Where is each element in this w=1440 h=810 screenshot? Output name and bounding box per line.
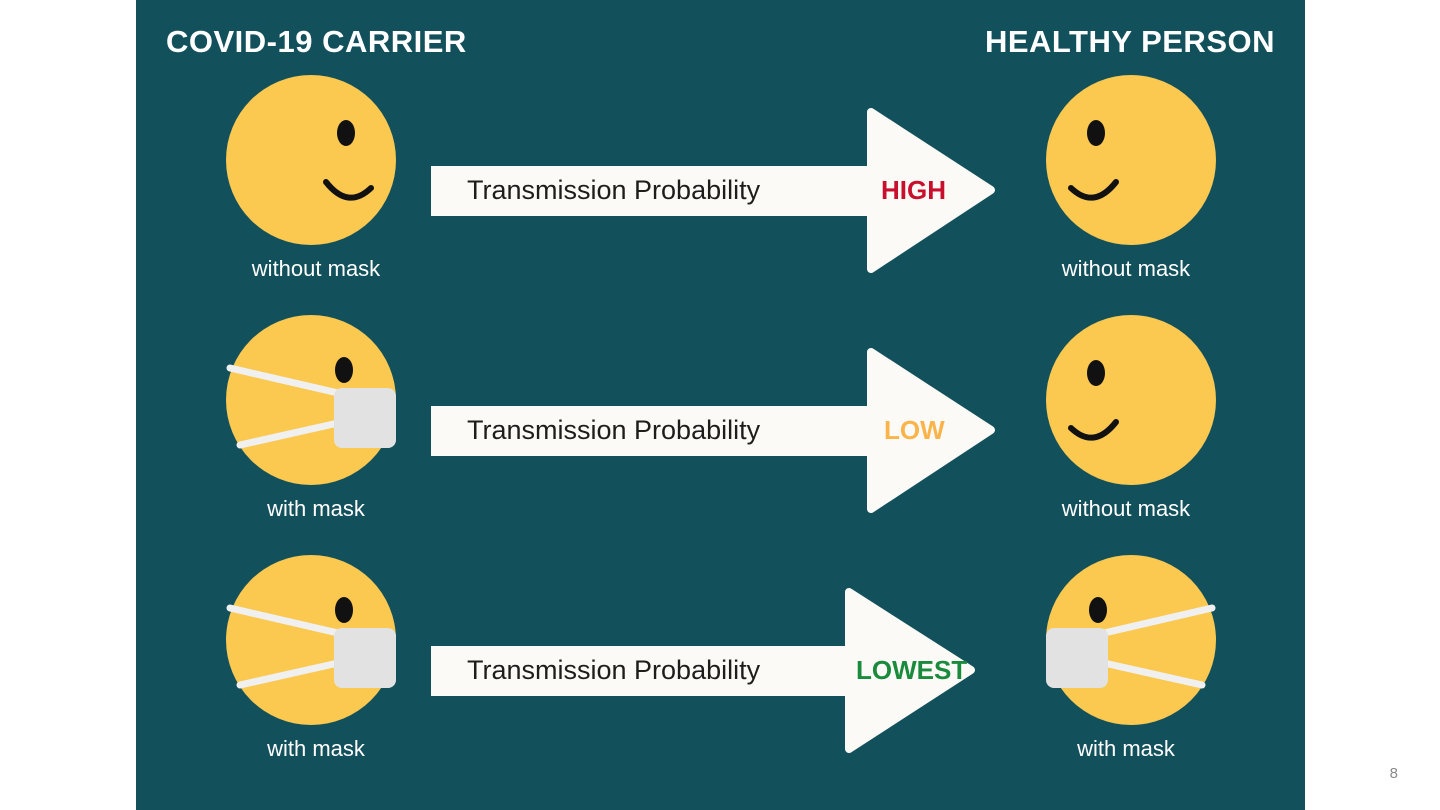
healthy-face-block: with mask (996, 550, 1256, 762)
carrier-face-block: with mask (186, 310, 446, 522)
transmission-arrow: Transmission Probability LOWEST (431, 588, 996, 753)
face-with-mask-icon (216, 310, 416, 490)
page-number: 8 (1390, 765, 1398, 782)
face-caption: with mask (186, 736, 446, 762)
transmission-arrow: Transmission Probability LOW (431, 348, 996, 513)
face-caption: with mask (186, 496, 446, 522)
arrow-label: Transmission Probability (467, 348, 760, 513)
arrow-value-badge: LOW (884, 348, 945, 513)
column-header-carrier: COVID-19 CARRIER (166, 24, 467, 60)
face-with-mask-icon (1026, 550, 1226, 730)
face-caption: without mask (996, 496, 1256, 522)
face-without-mask-icon (216, 70, 416, 250)
arrow-label: Transmission Probability (467, 588, 760, 753)
arrow-label: Transmission Probability (467, 108, 760, 273)
transmission-row: with mask Transmission Probability LOWES… (136, 550, 1305, 790)
arrow-value-badge: LOWEST (856, 588, 967, 753)
transmission-row: without mask Transmission Probability HI… (136, 70, 1305, 310)
slide-canvas: COVID-19 CARRIER HEALTHY PERSON without … (0, 0, 1440, 810)
transmission-arrow: Transmission Probability HIGH (431, 108, 996, 273)
carrier-face-block: with mask (186, 550, 446, 762)
healthy-face-block: without mask (996, 70, 1256, 282)
healthy-face-block: without mask (996, 310, 1256, 522)
transmission-row: with mask Transmission Probability LOW (136, 310, 1305, 550)
carrier-face-block: without mask (186, 70, 446, 282)
face-caption: with mask (996, 736, 1256, 762)
face-without-mask-icon (1026, 70, 1226, 250)
column-header-healthy: HEALTHY PERSON (985, 24, 1275, 60)
arrow-value-badge: HIGH (881, 108, 946, 273)
face-caption: without mask (186, 256, 446, 282)
slide-content-panel: COVID-19 CARRIER HEALTHY PERSON without … (136, 0, 1305, 810)
face-with-mask-icon (216, 550, 416, 730)
face-without-mask-icon (1026, 310, 1226, 490)
face-caption: without mask (996, 256, 1256, 282)
